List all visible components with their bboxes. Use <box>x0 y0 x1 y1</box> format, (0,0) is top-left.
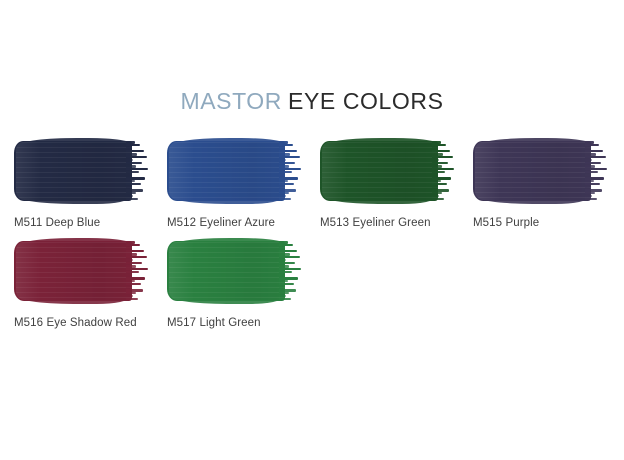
swatch-cell-m511[interactable]: M511 Deep Blue <box>10 138 163 229</box>
swatch-cell-m512[interactable]: M512 Eyeliner Azure <box>163 138 316 229</box>
paint-swatch-m513[interactable] <box>320 138 454 204</box>
paint-swatch-m515[interactable] <box>473 138 607 204</box>
swatch-row-2: M516 Eye Shadow Red M517 Light Green <box>10 238 624 329</box>
swatch-body <box>473 141 591 201</box>
title-rest: EYE COLORS <box>288 88 444 114</box>
page-title: MASTOREYE COLORS <box>0 88 624 115</box>
swatch-label-m513: M513 Eyeliner Green <box>320 217 431 229</box>
swatch-cell-m515[interactable]: M515 Purple <box>469 138 622 229</box>
swatch-body <box>320 141 438 201</box>
paint-swatch-m516[interactable] <box>14 238 148 304</box>
color-chart-page: MASTOREYE COLORS M511 Deep Blue <box>0 0 624 460</box>
swatch-body <box>14 141 132 201</box>
swatch-label-m511: M511 Deep Blue <box>14 217 100 229</box>
swatch-label-m516: M516 Eye Shadow Red <box>14 317 137 329</box>
swatch-body <box>167 141 285 201</box>
paint-swatch-m512[interactable] <box>167 138 301 204</box>
brush-bristle-edge <box>585 139 611 203</box>
brush-bristle-edge <box>432 139 458 203</box>
brush-bristle-edge <box>126 239 152 303</box>
brush-bristle-edge <box>279 239 305 303</box>
swatch-grid: M511 Deep Blue M512 Eyeliner Azure <box>10 138 624 338</box>
swatch-cell-m513[interactable]: M513 Eyeliner Green <box>316 138 469 229</box>
paint-swatch-m517[interactable] <box>167 238 301 304</box>
swatch-cell-m516[interactable]: M516 Eye Shadow Red <box>10 238 163 329</box>
swatch-cell-m517[interactable]: M517 Light Green <box>163 238 316 329</box>
swatch-label-m517: M517 Light Green <box>167 317 261 329</box>
title-brand: MASTOR <box>180 88 282 114</box>
swatch-label-m512: M512 Eyeliner Azure <box>167 217 275 229</box>
swatch-body <box>167 241 285 301</box>
swatch-row-1: M511 Deep Blue M512 Eyeliner Azure <box>10 138 624 229</box>
brush-bristle-edge <box>279 139 305 203</box>
paint-swatch-m511[interactable] <box>14 138 148 204</box>
brush-bristle-edge <box>126 139 152 203</box>
swatch-label-m515: M515 Purple <box>473 217 539 229</box>
swatch-body <box>14 241 132 301</box>
